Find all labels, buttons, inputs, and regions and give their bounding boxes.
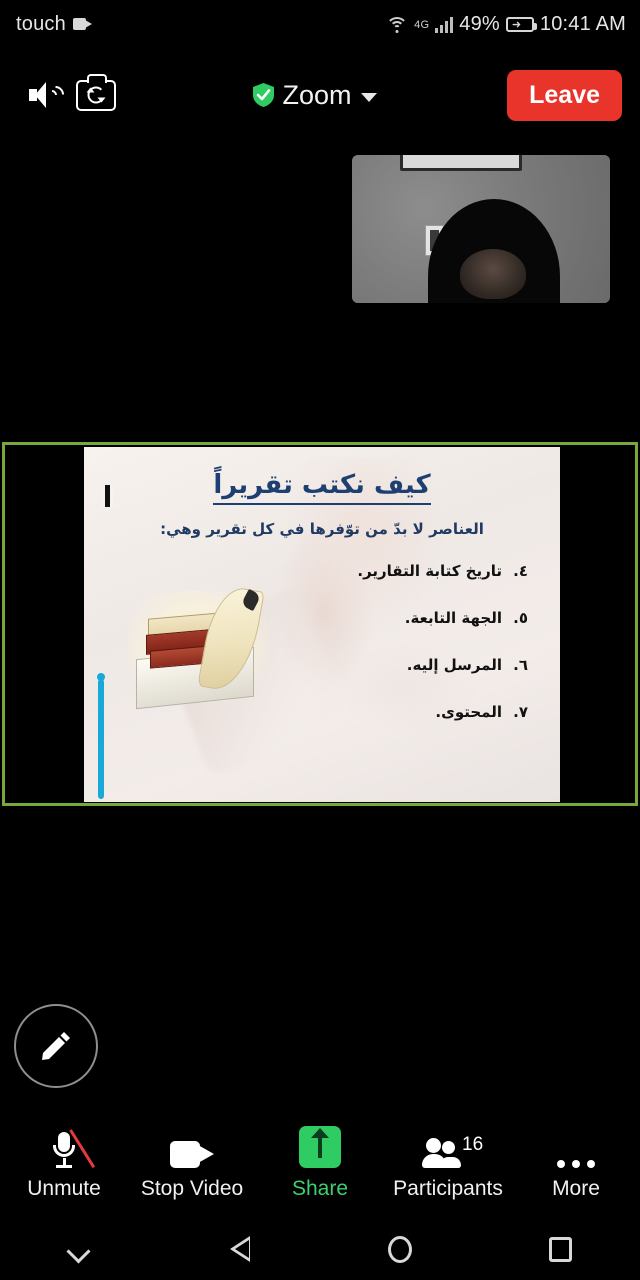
- network-type-label: 4G: [414, 19, 429, 31]
- meeting-name-dropdown[interactable]: Zoom: [122, 80, 507, 111]
- list-item-number: ٧.: [512, 703, 528, 721]
- signal-bars-icon: [435, 16, 453, 33]
- self-video-thumbnail[interactable]: [352, 155, 610, 303]
- list-item-label: المحتوى.: [435, 703, 502, 721]
- slide-title: كيف نكتب تقريراً: [84, 470, 560, 500]
- meeting-top-bar: Zoom Leave: [0, 48, 640, 142]
- more-dots-icon: [557, 1128, 595, 1168]
- shared-screen-region[interactable]: كيف نكتب تقريراً العناصر لا بدّ من توّفر…: [2, 442, 638, 806]
- presentation-slide[interactable]: كيف نكتب تقريراً العناصر لا بدّ من توّفر…: [84, 447, 560, 802]
- shield-check-icon: [253, 83, 274, 107]
- battery-percent-label: 49%: [459, 13, 500, 36]
- more-label: More: [552, 1177, 600, 1201]
- more-button[interactable]: More: [512, 1128, 640, 1201]
- list-item-label: الجهة التابعة.: [405, 609, 502, 627]
- chevron-down-icon: [70, 1245, 90, 1254]
- android-status-bar: touch 4G 49% ➜ 10:41 AM: [0, 0, 640, 48]
- participants-button[interactable]: 16 Participants: [384, 1128, 512, 1201]
- list-item: ٧. المحتوى.: [312, 703, 542, 721]
- recents-square-icon: [549, 1237, 572, 1262]
- meeting-toolbar: Unmute Stop Video Share 16 Participants: [0, 1110, 640, 1218]
- share-label: Share: [292, 1177, 348, 1201]
- status-bar-right: 4G 49% ➜ 10:41 AM: [386, 13, 626, 36]
- participants-icon: 16: [422, 1128, 474, 1168]
- home-circle-icon: [388, 1236, 412, 1263]
- list-item-number: ٤.: [512, 562, 528, 580]
- annotation-stroke: [98, 679, 104, 799]
- slide-list: ٤. تاريخ كتابة التقارير. ٥. الجهة التابع…: [312, 562, 542, 750]
- slide-subtitle: العناصر لا بدّ من توّفرها في كل تقرير وه…: [84, 520, 560, 538]
- back-button[interactable]: [160, 1236, 320, 1262]
- hide-nav-button[interactable]: [0, 1245, 160, 1254]
- home-button[interactable]: [320, 1236, 480, 1263]
- participants-label: Participants: [393, 1177, 503, 1201]
- list-item-label: المرسل إليه.: [407, 656, 502, 674]
- share-button[interactable]: Share: [256, 1128, 384, 1201]
- list-item: ٤. تاريخ كتابة التقارير.: [312, 562, 542, 580]
- leave-button[interactable]: Leave: [507, 70, 622, 121]
- list-item-number: ٥.: [512, 609, 528, 627]
- slide-title-text: كيف نكتب تقريراً: [213, 470, 430, 505]
- chevron-down-icon: [361, 93, 377, 102]
- android-nav-bar: [0, 1218, 640, 1280]
- speaker-icon: [29, 82, 59, 108]
- video-camera-icon: [73, 18, 92, 30]
- zoom-meeting-screen: touch 4G 49% ➜ 10:41 AM: [0, 0, 640, 1280]
- annotate-button[interactable]: [14, 1004, 98, 1088]
- back-triangle-icon: [230, 1236, 250, 1262]
- wall-picture-frame: [400, 155, 522, 171]
- unmute-button[interactable]: Unmute: [0, 1128, 128, 1201]
- participants-count-badge: 16: [462, 1134, 483, 1156]
- share-arrow-icon: [299, 1128, 341, 1168]
- meeting-name-label: Zoom: [283, 80, 352, 111]
- list-item-number: ٦.: [512, 656, 528, 674]
- stop-video-button[interactable]: Stop Video: [128, 1128, 256, 1201]
- unmute-label: Unmute: [27, 1177, 101, 1201]
- carrier-label: touch: [16, 13, 66, 36]
- flip-camera-icon: [76, 80, 116, 111]
- list-item: ٦. المرسل إليه.: [312, 656, 542, 674]
- microphone-muted-icon: [53, 1128, 75, 1168]
- speaker-button[interactable]: [18, 69, 70, 121]
- flip-camera-button[interactable]: [70, 69, 122, 121]
- wifi-icon: [386, 16, 408, 33]
- list-item: ٥. الجهة التابعة.: [312, 609, 542, 627]
- books-and-quill-clipart: [120, 589, 280, 711]
- clock-label: 10:41 AM: [540, 13, 626, 36]
- pencil-icon: [37, 1027, 75, 1065]
- recents-button[interactable]: [480, 1237, 640, 1262]
- participant-face: [460, 249, 526, 299]
- video-camera-icon: [170, 1128, 214, 1168]
- list-item-label: تاريخ كتابة التقارير.: [357, 562, 502, 580]
- battery-charging-icon: ➜: [506, 17, 534, 32]
- stop-video-label: Stop Video: [141, 1177, 243, 1201]
- status-bar-left: touch: [16, 13, 92, 36]
